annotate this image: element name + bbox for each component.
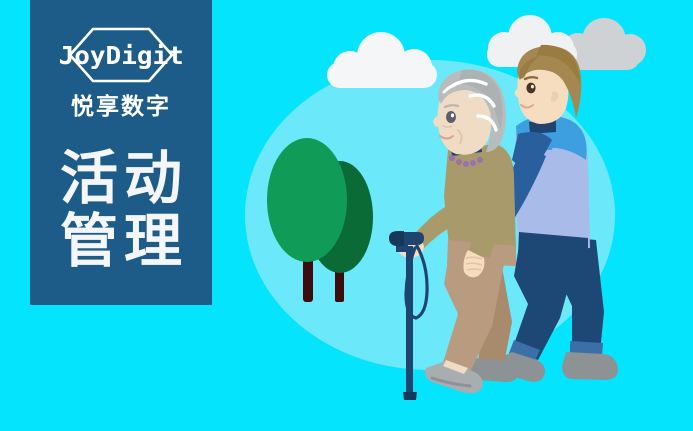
- illustration-banner: JoyDigit 悦享数字 活动 管理: [0, 0, 693, 431]
- logo-wordmark: JoyDigit: [58, 43, 183, 68]
- brand-name-cn: 悦享数字: [71, 95, 171, 118]
- page-title-line-1: 活动: [54, 148, 188, 211]
- page-title: 活动 管理: [54, 148, 188, 273]
- title-panel: JoyDigit 悦享数字 活动 管理: [30, 0, 212, 305]
- brand-logo: JoyDigit: [53, 26, 189, 84]
- page-title-line-2: 管理: [54, 211, 188, 274]
